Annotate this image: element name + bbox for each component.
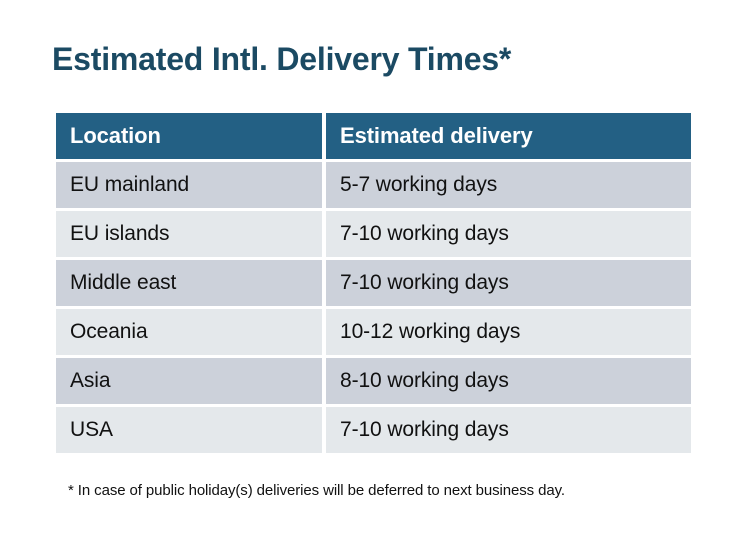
- cell-estimated-delivery: 5-7 working days: [326, 162, 691, 208]
- cell-estimated-delivery: 7-10 working days: [326, 260, 691, 306]
- column-header-location: Location: [56, 113, 322, 159]
- table-row: Middle east 7-10 working days: [56, 260, 691, 306]
- page-title: Estimated Intl. Delivery Times*: [52, 38, 511, 80]
- table-row: EU islands 7-10 working days: [56, 211, 691, 257]
- cell-location: USA: [56, 407, 322, 453]
- table-body: EU mainland 5-7 working days EU islands …: [56, 162, 691, 453]
- cell-estimated-delivery: 7-10 working days: [326, 407, 691, 453]
- cell-location: Middle east: [56, 260, 322, 306]
- table-row: Oceania 10-12 working days: [56, 309, 691, 355]
- table-row: EU mainland 5-7 working days: [56, 162, 691, 208]
- column-header-estimated-delivery: Estimated delivery: [326, 113, 691, 159]
- cell-estimated-delivery: 10-12 working days: [326, 309, 691, 355]
- table-header-row: Location Estimated delivery: [56, 113, 691, 159]
- cell-location: EU mainland: [56, 162, 322, 208]
- table-header: Location Estimated delivery: [56, 113, 691, 159]
- cell-estimated-delivery: 7-10 working days: [326, 211, 691, 257]
- delivery-times-document: Estimated Intl. Delivery Times* Location…: [0, 0, 745, 536]
- footnote: * In case of public holiday(s) deliverie…: [68, 481, 565, 501]
- estimated-delivery-times-table: Location Estimated delivery EU mainland …: [52, 110, 695, 456]
- cell-location: Oceania: [56, 309, 322, 355]
- cell-estimated-delivery: 8-10 working days: [326, 358, 691, 404]
- cell-location: Asia: [56, 358, 322, 404]
- table-row: Asia 8-10 working days: [56, 358, 691, 404]
- table-row: USA 7-10 working days: [56, 407, 691, 453]
- cell-location: EU islands: [56, 211, 322, 257]
